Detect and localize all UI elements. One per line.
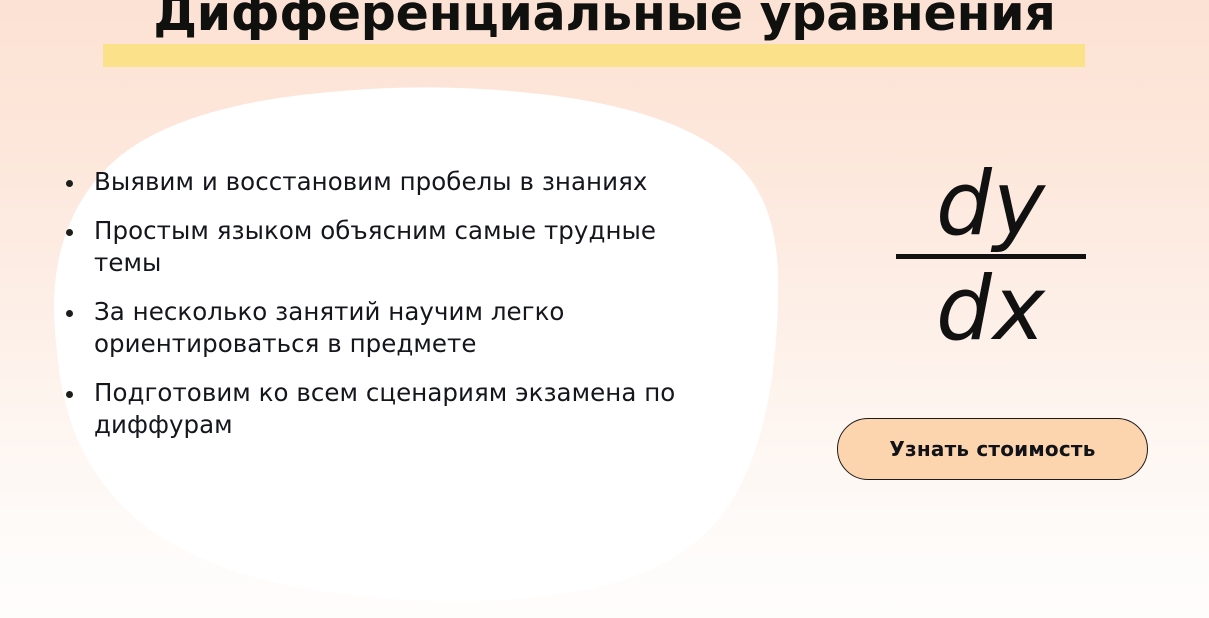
benefit-text: За несколько занятий научим легко ориент…	[94, 296, 706, 361]
bullet-dot-icon	[66, 391, 73, 398]
formula-numerator: dy	[896, 160, 1086, 248]
page-title-container: Дифференциальные уравнения	[0, 0, 1209, 42]
list-item: Простым языком объясним самые трудные те…	[66, 215, 706, 280]
benefit-text: Выявим и восстановим пробелы в знаниях	[94, 166, 647, 199]
get-price-button[interactable]: Узнать стоимость	[837, 418, 1148, 480]
list-item: За несколько занятий научим легко ориент…	[66, 296, 706, 361]
benefit-text: Подготовим ко всем сценариям экзамена по…	[94, 377, 706, 442]
formula-denominator: dx	[896, 265, 1086, 353]
bullet-dot-icon	[66, 180, 73, 187]
benefits-list: Выявим и восстановим пробелы в знаниях П…	[66, 166, 706, 442]
title-highlight-band	[103, 44, 1085, 67]
bullet-dot-icon	[66, 310, 73, 317]
hero-section: Дифференциальные уравнения Выявим и восс…	[0, 0, 1209, 618]
get-price-button-label: Узнать стоимость	[889, 437, 1095, 461]
page-title: Дифференциальные уравнения	[153, 0, 1055, 42]
list-item: Выявим и восстановим пробелы в знаниях	[66, 166, 706, 199]
derivative-formula: dy dx	[896, 160, 1086, 353]
benefit-text: Простым языком объясним самые трудные те…	[94, 215, 706, 280]
list-item: Подготовим ко всем сценариям экзамена по…	[66, 377, 706, 442]
bullet-dot-icon	[66, 229, 73, 236]
